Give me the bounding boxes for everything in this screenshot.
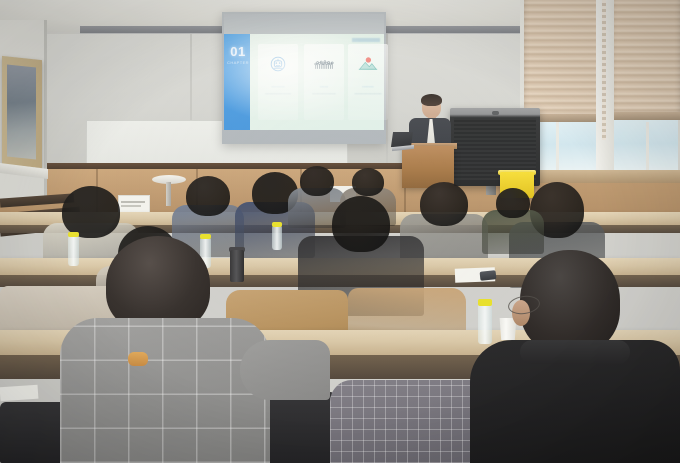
- water-bottle: [478, 304, 492, 344]
- foreground-grey-check-sweater-man-body: [60, 318, 270, 463]
- foreground-man-hand: [128, 352, 148, 366]
- turtleneck-collar: [520, 340, 630, 364]
- seminar-room-photo: 01 CHAPTER ········ ····················…: [0, 0, 680, 463]
- foreground-man-arm: [240, 340, 330, 400]
- handout-paper: [0, 385, 38, 402]
- bottle-cap: [478, 299, 492, 306]
- attendee-striped-knit-head: [332, 196, 390, 252]
